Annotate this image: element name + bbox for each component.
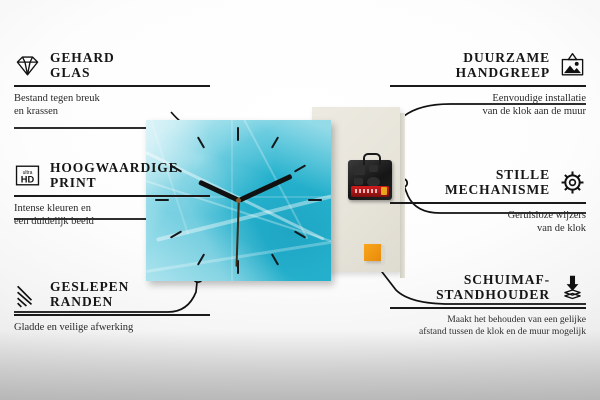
- tick-5: [271, 253, 279, 265]
- feature-title-line2: HANDGREEP: [456, 65, 550, 80]
- feature-gehard-glas: GEHARD GLAS Bestand tegen breuk en krass…: [14, 50, 210, 119]
- ultra-hd-icon: ultra HD: [14, 162, 41, 189]
- mechanism-detail: [354, 178, 363, 185]
- feature-title-line2: PRINT: [50, 175, 179, 190]
- feature-title-line1: GESLEPEN: [50, 279, 129, 294]
- feature-description: Maakt het behouden van een gelijke afsta…: [390, 314, 586, 339]
- tick-1: [271, 136, 279, 148]
- feature-title-line2: GLAS: [50, 65, 115, 80]
- feature-schuimafstandhouder: SCHUIMAF- STANDHOUDER Maakt het behouden…: [390, 272, 586, 339]
- battery-label: [355, 189, 379, 193]
- feature-title-group: HOOGWAARDIGE PRINT: [50, 160, 179, 190]
- desc-line-2: afstand tussen de klok en de muur mogeli…: [390, 326, 586, 339]
- feature-title-line2: MECHANISME: [445, 182, 550, 197]
- battery-plus-terminal: [381, 187, 387, 195]
- desc-line-1: Maakt het behouden van een gelijke: [390, 314, 586, 327]
- foam-spacer-icon: [559, 274, 586, 301]
- picture-frame-icon: [559, 52, 586, 79]
- desc-line-1: Bestand tegen breuk: [14, 92, 210, 106]
- feature-description: Bestand tegen breuk en krassen: [14, 92, 210, 120]
- desc-line-2: van de klok: [390, 222, 586, 236]
- desc-line-1: Geruisloze wijzers: [390, 209, 586, 223]
- feature-title-group: DUURZAME HANDGREEP: [456, 50, 550, 80]
- divider: [14, 85, 210, 86]
- feature-title-group: STILLE MECHANISME: [445, 167, 550, 197]
- feature-description: Gladde en veilige afwerking: [14, 321, 210, 335]
- desc-line-2: een duidelijk beeld: [14, 215, 210, 229]
- clock-mechanism: [348, 160, 392, 200]
- divider: [14, 195, 210, 196]
- feature-description: Intense kleuren en een duidelijk beeld: [14, 202, 210, 230]
- feature-title-line1: GEHARD: [50, 50, 115, 65]
- tick-11: [197, 136, 205, 148]
- feature-duurzame-handgreep: DUURZAME HANDGREEP Eenvoudige installati…: [390, 50, 586, 119]
- hanging-loop-icon: [363, 153, 381, 165]
- feature-title-group: SCHUIMAF- STANDHOUDER: [436, 272, 550, 302]
- mechanism-detail: [353, 166, 365, 175]
- feature-title-line1: STILLE: [445, 167, 550, 182]
- divider: [390, 307, 586, 308]
- divider: [14, 314, 210, 315]
- feature-title-line2: RANDEN: [50, 294, 129, 309]
- desc-line-1: Eenvoudige installatie: [390, 92, 586, 106]
- feature-title-group: GEHARD GLAS: [50, 50, 115, 80]
- desc-line-2: en krassen: [14, 105, 210, 119]
- battery: [351, 186, 389, 197]
- feature-description: Geruisloze wijzers van de klok: [390, 209, 586, 237]
- feature-title-line2: STANDHOUDER: [436, 287, 550, 302]
- mechanism-detail: [369, 165, 378, 172]
- tick-2: [294, 164, 306, 172]
- foam-spacer-pad: [364, 244, 381, 261]
- gear-icon: [559, 169, 586, 196]
- feature-geslepen-randen: GESLEPEN RANDEN Gladde en veilige afwerk…: [14, 279, 210, 334]
- desc-line-2: van de klok aan de muur: [390, 105, 586, 119]
- beveled-edges-icon: [14, 281, 41, 308]
- divider: [390, 85, 586, 86]
- tick-12: [237, 127, 239, 141]
- feature-title-line1: DUURZAME: [456, 50, 550, 65]
- desc-line-1: Intense kleuren en: [14, 202, 210, 216]
- clock-center-pivot: [236, 198, 241, 203]
- feature-stille-mechanisme: STILLE MECHANISME Geruisloze wijzers van…: [390, 167, 586, 236]
- feature-description: Eenvoudige installatie van de klok aan d…: [390, 92, 586, 120]
- feature-title-line1: HOOGWAARDIGE: [50, 160, 179, 175]
- infographic-canvas: GEHARD GLAS Bestand tegen breuk en krass…: [0, 0, 600, 400]
- tick-3: [308, 199, 322, 201]
- svg-text:HD: HD: [21, 174, 35, 184]
- feature-title-line1: SCHUIMAF-: [436, 272, 550, 287]
- feature-title-group: GESLEPEN RANDEN: [50, 279, 129, 309]
- desc-line-1: Gladde en veilige afwerking: [14, 321, 210, 335]
- diamond-icon: [14, 52, 41, 79]
- feature-hoogwaardige-print: ultra HD HOOGWAARDIGE PRINT Intense kleu…: [14, 160, 210, 229]
- divider: [390, 202, 586, 203]
